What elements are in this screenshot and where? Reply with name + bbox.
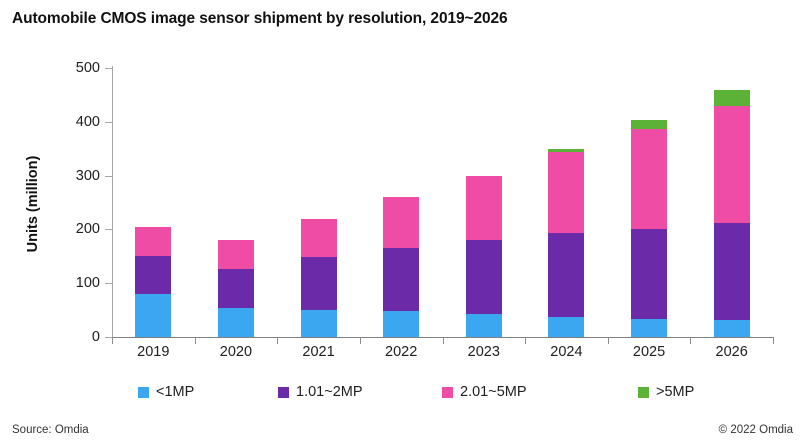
- legend-swatch-icon: [138, 387, 149, 398]
- bar-segment[interactable]: [301, 219, 337, 258]
- x-axis-tick-label: 2024: [526, 344, 606, 360]
- bar-segment[interactable]: [135, 256, 171, 294]
- source-note: Source: Omdia: [12, 424, 89, 436]
- bar-stack-2025[interactable]: [631, 120, 667, 337]
- y-axis-tick: [105, 176, 112, 177]
- bar-stack-2019[interactable]: [135, 227, 171, 337]
- bar-segment[interactable]: [548, 233, 584, 316]
- y-axis-tick-label: 200: [56, 223, 100, 235]
- bar-stack-2020[interactable]: [218, 240, 254, 337]
- y-axis-tick-label: 500: [56, 62, 100, 74]
- x-axis-tick: [525, 337, 526, 344]
- x-axis-tick: [360, 337, 361, 344]
- legend-label: >5MP: [656, 384, 694, 400]
- bar-segment[interactable]: [218, 240, 254, 269]
- y-axis-tick-label: 400: [56, 116, 100, 128]
- legend-item[interactable]: 1.01~2MP: [278, 384, 363, 400]
- bar-segment[interactable]: [631, 129, 667, 229]
- y-axis-tick-label: 100: [56, 277, 100, 289]
- bar-segment[interactable]: [466, 240, 502, 314]
- legend-item[interactable]: 2.01~5MP: [442, 384, 527, 400]
- x-axis-tick-label: 2021: [279, 344, 359, 360]
- y-axis-tick: [105, 68, 112, 69]
- bar-segment[interactable]: [548, 317, 584, 337]
- x-axis-tick: [608, 337, 609, 344]
- bar-segment[interactable]: [631, 319, 667, 337]
- bar-segment[interactable]: [466, 314, 502, 337]
- legend-label: 2.01~5MP: [460, 384, 527, 400]
- x-axis-tick-label: 2023: [444, 344, 524, 360]
- x-axis-tick: [690, 337, 691, 344]
- bar-segment[interactable]: [714, 106, 750, 223]
- bar-segment[interactable]: [383, 311, 419, 337]
- x-axis-tick-label: 2026: [692, 344, 772, 360]
- x-axis-tick-label: 2025: [609, 344, 689, 360]
- x-axis-tick: [112, 337, 113, 344]
- y-axis-tick-label: 0: [56, 331, 100, 343]
- bar-segment[interactable]: [714, 320, 750, 337]
- bar-segment[interactable]: [466, 176, 502, 241]
- bar-stack-2023[interactable]: [466, 176, 502, 337]
- y-axis-title: Units (million): [25, 119, 41, 289]
- x-axis-tick-label: 2019: [113, 344, 193, 360]
- legend-label: <1MP: [156, 384, 194, 400]
- bar-segment[interactable]: [135, 294, 171, 337]
- bar-segment[interactable]: [548, 152, 584, 233]
- y-axis-tick: [105, 283, 112, 284]
- x-axis-tick: [443, 337, 444, 344]
- legend-label: 1.01~2MP: [296, 384, 363, 400]
- x-axis-tick: [773, 337, 774, 344]
- x-axis-tick: [195, 337, 196, 344]
- legend-item[interactable]: >5MP: [638, 384, 694, 400]
- bar-segment[interactable]: [135, 227, 171, 257]
- legend-swatch-icon: [442, 387, 453, 398]
- x-axis-tick: [277, 337, 278, 344]
- x-axis-tick-label: 2022: [361, 344, 441, 360]
- bar-stack-2024[interactable]: [548, 149, 584, 337]
- bar-segment[interactable]: [301, 310, 337, 337]
- bar-segment[interactable]: [714, 90, 750, 107]
- bar-segment[interactable]: [631, 120, 667, 129]
- legend-swatch-icon: [638, 387, 649, 398]
- bar-stack-2026[interactable]: [714, 90, 750, 337]
- y-axis-line: [112, 66, 113, 338]
- bar-segment[interactable]: [383, 197, 419, 248]
- chart-legend: <1MP1.01~2MP2.01~5MP>5MP: [0, 384, 805, 406]
- legend-item[interactable]: <1MP: [138, 384, 194, 400]
- y-axis-tick-label: 300: [56, 170, 100, 182]
- bar-segment[interactable]: [301, 257, 337, 310]
- y-axis-tick: [105, 122, 112, 123]
- chart-plot-area: Units (million) 0100200300400500 2019202…: [0, 0, 805, 444]
- x-axis-tick-label: 2020: [196, 344, 276, 360]
- bar-stack-2021[interactable]: [301, 219, 337, 337]
- bar-stack-2022[interactable]: [383, 197, 419, 337]
- bar-segment[interactable]: [383, 248, 419, 311]
- bar-segment[interactable]: [714, 223, 750, 320]
- y-axis-tick: [105, 337, 112, 338]
- y-axis-tick: [105, 229, 112, 230]
- bar-segment[interactable]: [631, 229, 667, 319]
- copyright-note: © 2022 Omdia: [719, 424, 793, 436]
- bar-segment[interactable]: [548, 149, 584, 153]
- legend-swatch-icon: [278, 387, 289, 398]
- bar-segment[interactable]: [218, 308, 254, 337]
- bar-segment[interactable]: [218, 269, 254, 308]
